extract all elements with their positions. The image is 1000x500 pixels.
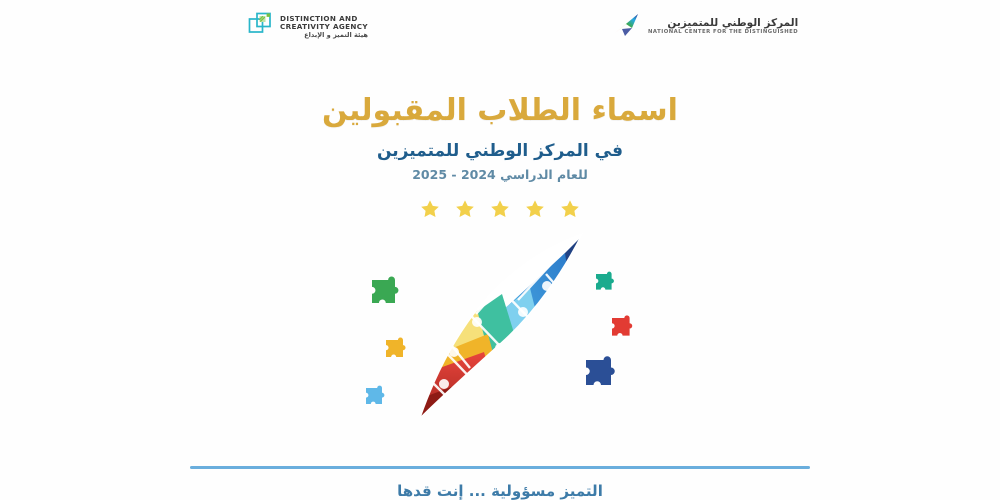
logo-left-en-line2: CREATIVITY AGENCY (280, 23, 368, 31)
puzzle-piece-yellow (386, 337, 406, 357)
star-icon (489, 198, 511, 220)
title-block: اسماء الطلاب المقبولين في المركز الوطني … (0, 92, 1000, 183)
multicolor-arrow-bird-icon (612, 12, 642, 42)
puzzle-piece-navy (586, 356, 615, 385)
puzzle-rocket-illustration (0, 228, 1000, 438)
star-icon (524, 198, 546, 220)
puzzle-piece-lightblue (366, 386, 384, 404)
page-title: اسماء الطلاب المقبولين (0, 92, 1000, 130)
academic-year: للعام الدراسي 2024 - 2025 (0, 167, 1000, 183)
puzzle-piece-teal (596, 272, 614, 290)
page-subtitle: في المركز الوطني للمتميزين (0, 140, 1000, 162)
footer-slogan: التميز مسؤولية ... إنت قدها (0, 482, 1000, 500)
rocket-body (400, 228, 610, 428)
star-icon (559, 198, 581, 220)
logo-right-ar-line: المركز الوطني للمتميزين (648, 18, 798, 30)
logo-left-ar-line: هيئة التميز و الإبداع (280, 32, 368, 39)
star-icon (419, 198, 441, 220)
star-icon (454, 198, 476, 220)
header-logo-bar: DISTINCTION AND CREATIVITY AGENCY هيئة ا… (0, 0, 1000, 60)
puzzle-piece-green (372, 277, 398, 303)
logo-right-en-line: NATIONAL CENTER FOR THE DISTINGUISHED (648, 30, 798, 36)
footer: التميز مسؤولية ... إنت قدها (0, 466, 1000, 500)
puzzle-piece-red (612, 315, 632, 335)
star-rating-row (0, 198, 1000, 220)
footer-divider (190, 466, 810, 469)
logo-distinction-creativity-agency: DISTINCTION AND CREATIVITY AGENCY هيئة ا… (248, 12, 368, 42)
overlapping-squares-icon (248, 12, 274, 42)
logo-national-center-distinguished: المركز الوطني للمتميزين NATIONAL CENTER … (612, 12, 798, 42)
poster-canvas: DISTINCTION AND CREATIVITY AGENCY هيئة ا… (0, 0, 1000, 500)
